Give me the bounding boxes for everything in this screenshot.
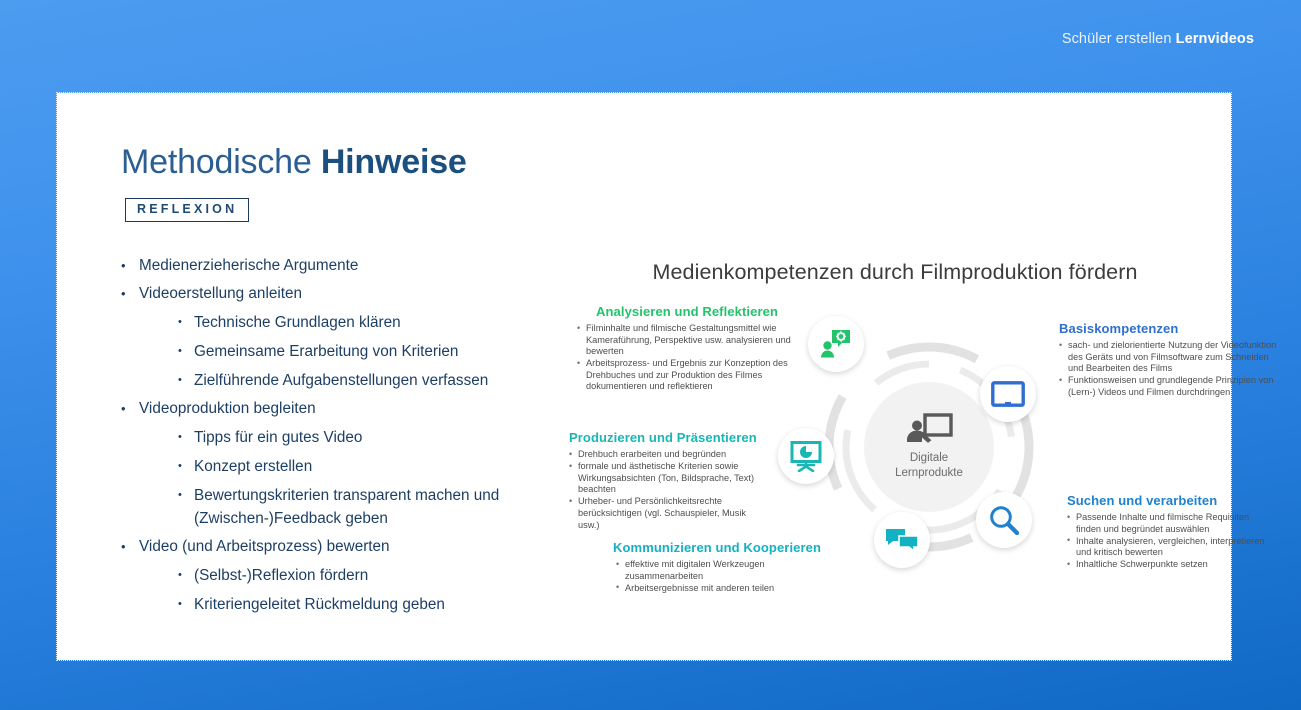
bullet-item: •Technische Grundlagen klären <box>121 311 591 334</box>
node-analysieren[interactable] <box>808 316 864 372</box>
bullet-dot-icon: • <box>178 311 194 334</box>
person-idea-bubble-icon <box>821 330 851 358</box>
bullet-text: Zielführende Aufgabenstellungen verfasse… <box>194 369 488 392</box>
section-kommunizieren-heading: Kommunizieren und Kooperieren <box>613 540 823 555</box>
bullet-item: •Kriteriengeleitet Rückmeldung geben <box>121 593 591 616</box>
slide-card: Methodische Hinweise REFLEXION •Mediener… <box>57 93 1231 660</box>
section-produzieren: Produzieren und Präsentieren Drehbuch er… <box>569 430 761 532</box>
page-title: Methodische Hinweise <box>121 143 467 182</box>
slide-header-prefix: Schüler erstellen <box>1062 31 1176 47</box>
slide-header-brand: Lernvideos <box>1176 31 1254 47</box>
list-item: Urheber- und Persönlichkeitsrechte berüc… <box>569 496 761 531</box>
page-title-light: Methodische <box>121 143 321 181</box>
infographic: Medienkompetenzen durch Filmproduktion f… <box>559 260 1231 640</box>
node-suchen[interactable] <box>976 492 1032 548</box>
chat-bubbles-icon <box>886 528 918 552</box>
hub-label-line1: Digitale <box>895 451 963 466</box>
section-basiskompetenzen-heading: Basiskompetenzen <box>1059 321 1277 336</box>
bullet-item: •Videoerstellung anleiten <box>121 283 591 305</box>
bullet-item: •Bewertungskriterien transparent machen … <box>121 484 591 530</box>
bullet-text: Kriteriengeleitet Rückmeldung geben <box>194 593 445 616</box>
hub-label-line2: Lernprodukte <box>895 466 963 481</box>
list-item: Inhaltliche Schwerpunkte setzen <box>1067 559 1272 571</box>
section-suchen-items: Passende Inhalte und filmische Requisite… <box>1067 512 1272 571</box>
node-basiskompetenzen[interactable] <box>980 366 1036 422</box>
section-suchen: Suchen und verarbeiten Passende Inhalte … <box>1067 493 1272 571</box>
bullet-text: Video (und Arbeitsprozess) bewerten <box>139 536 390 558</box>
bullet-dot-icon: • <box>178 564 194 587</box>
section-produzieren-items: Drehbuch erarbeiten und begründenformale… <box>569 449 761 531</box>
bullet-dot-icon: • <box>121 283 139 305</box>
bullet-text: Medienerzieherische Argumente <box>139 255 358 277</box>
infographic-ring: Digitale Lernprodukte <box>814 332 1044 562</box>
presentation-chart-icon <box>790 441 822 472</box>
list-item: Arbeitsergebnisse mit anderen teilen <box>613 583 823 595</box>
list-item: Filminhalte und filmische Gestaltungsmit… <box>577 323 797 358</box>
bullet-dot-icon: • <box>178 455 194 478</box>
hub-label: Digitale Lernprodukte <box>895 451 963 481</box>
tablet-screen-icon <box>991 381 1025 407</box>
node-kommunizieren[interactable] <box>874 512 930 568</box>
bullet-text: Technische Grundlagen klären <box>194 311 401 334</box>
bullet-text: Tipps für ein gutes Video <box>194 426 362 449</box>
bullet-text: Konzept erstellen <box>194 455 312 478</box>
bullet-item: •Videoproduktion begleiten <box>121 398 591 420</box>
list-item: Funktionsweisen und grundlegende Prinzip… <box>1059 375 1277 398</box>
bullet-dot-icon: • <box>121 398 139 420</box>
bullet-text: (Selbst-)Reflexion fördern <box>194 564 368 587</box>
section-suchen-heading: Suchen und verarbeiten <box>1067 493 1272 508</box>
bullet-text: Videoerstellung anleiten <box>139 283 302 305</box>
presenter-board-icon <box>905 413 953 447</box>
bullet-text: Gemeinsame Erarbeitung von Kriterien <box>194 340 458 363</box>
list-item: Inhalte analysieren, vergleichen, interp… <box>1067 536 1272 559</box>
list-item: effektive mit digitalen Werkzeugen zusam… <box>613 559 823 582</box>
infographic-hub: Digitale Lernprodukte <box>864 382 994 512</box>
status-badge: REFLEXION <box>125 198 249 222</box>
bullet-item: •Video (und Arbeitsprozess) bewerten <box>121 536 591 558</box>
list-item: Arbeitsprozess- und Ergebnis zur Konzept… <box>577 358 797 393</box>
bullet-item: •Gemeinsame Erarbeitung von Kriterien <box>121 340 591 363</box>
bullet-dot-icon: • <box>178 369 194 392</box>
bullet-text: Bewertungskriterien transparent machen u… <box>194 484 499 530</box>
section-basiskompetenzen-items: sach- und zielorientierte Nutzung der Vi… <box>1059 340 1277 398</box>
slide-header: Schüler erstellen Lernvideos <box>1062 31 1254 47</box>
bullet-dot-icon: • <box>121 255 139 277</box>
bullet-dot-icon: • <box>121 536 139 558</box>
bullet-dot-icon: • <box>178 426 194 449</box>
section-produzieren-heading: Produzieren und Präsentieren <box>569 430 761 445</box>
list-item: formale und ästhetische Kriterien sowie … <box>569 461 761 496</box>
bullet-dot-icon: • <box>178 484 194 507</box>
infographic-title: Medienkompetenzen durch Filmproduktion f… <box>559 260 1231 285</box>
bullet-text: Videoproduktion begleiten <box>139 398 316 420</box>
list-item: Drehbuch erarbeiten und begründen <box>569 449 761 461</box>
bullet-item: •Tipps für ein gutes Video <box>121 426 591 449</box>
bullet-item: •(Selbst-)Reflexion fördern <box>121 564 591 587</box>
node-produzieren[interactable] <box>778 428 834 484</box>
bullet-dot-icon: • <box>178 593 194 616</box>
page-title-bold: Hinweise <box>321 143 467 181</box>
section-kommunizieren-items: effektive mit digitalen Werkzeugen zusam… <box>613 559 823 594</box>
section-basiskompetenzen: Basiskompetenzen sach- und zielorientier… <box>1059 321 1277 399</box>
section-kommunizieren: Kommunizieren und Kooperieren effektive … <box>613 540 823 595</box>
section-analysieren-items: Filminhalte und filmische Gestaltungsmit… <box>577 323 797 393</box>
magnifier-icon <box>989 505 1019 535</box>
section-analysieren: Analysieren und Reflektieren Filminhalte… <box>577 304 797 394</box>
list-item: sach- und zielorientierte Nutzung der Vi… <box>1059 340 1277 375</box>
bullet-item: •Konzept erstellen <box>121 455 591 478</box>
bullet-item: •Zielführende Aufgabenstellungen verfass… <box>121 369 591 392</box>
bullet-dot-icon: • <box>178 340 194 363</box>
section-analysieren-heading: Analysieren und Reflektieren <box>577 304 797 319</box>
list-item: Passende Inhalte und filmische Requisite… <box>1067 512 1272 535</box>
bullet-item: •Medienerzieherische Argumente <box>121 255 591 277</box>
bullet-list: •Medienerzieherische Argumente•Videoerst… <box>121 255 591 622</box>
